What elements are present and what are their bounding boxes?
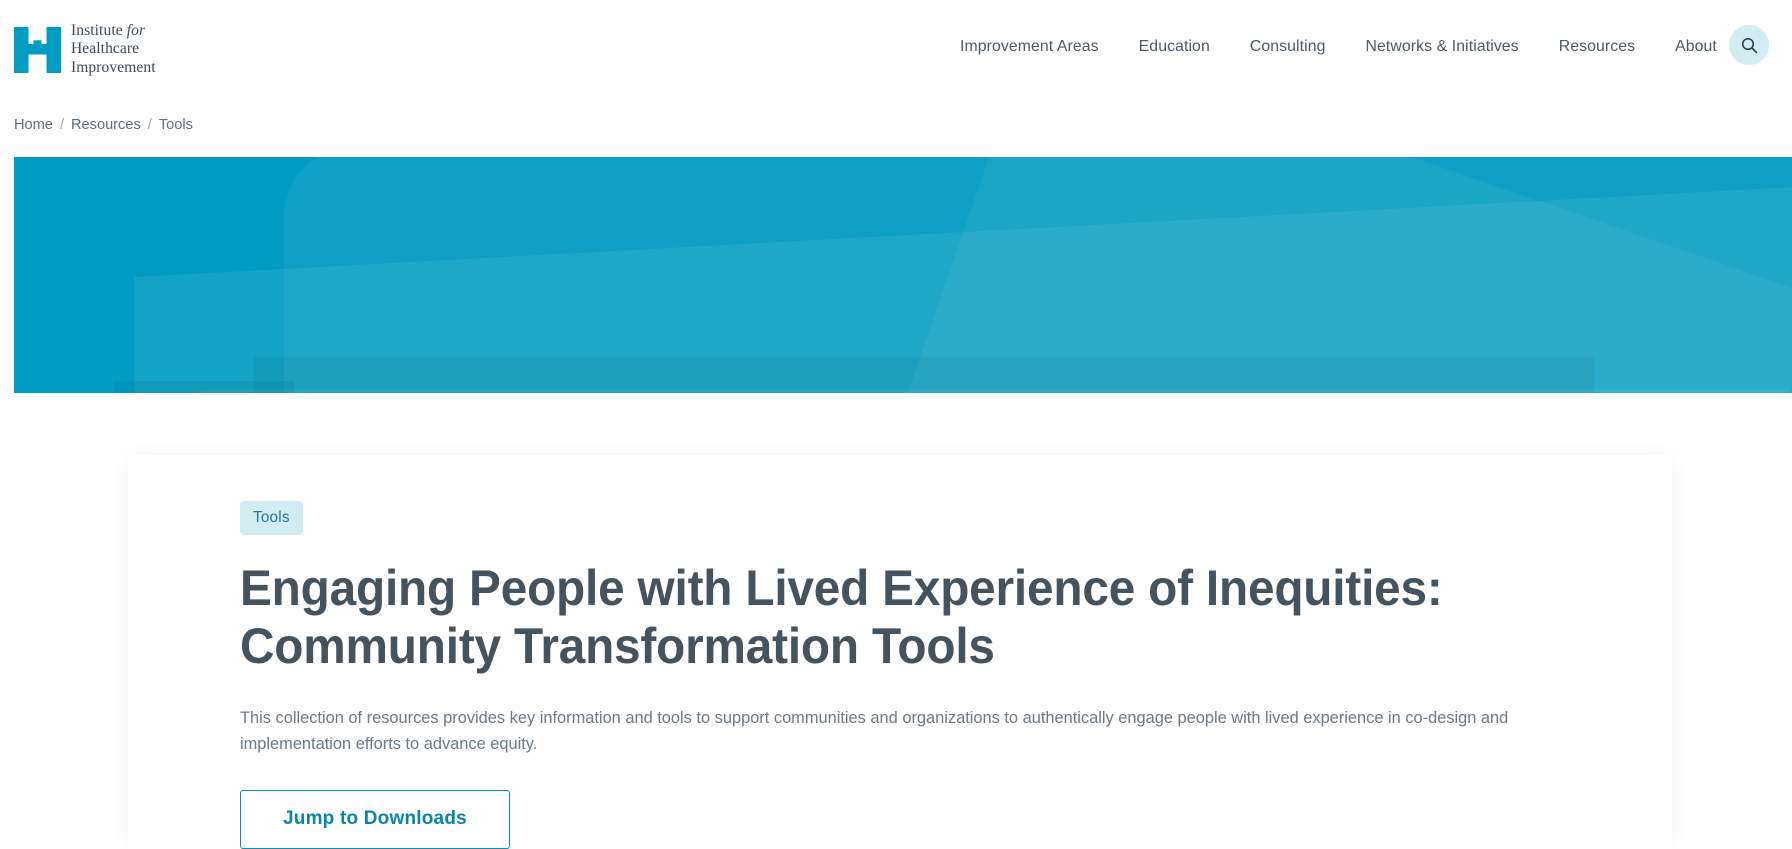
site-logo[interactable]: Institute for Healthcare Improvement xyxy=(14,22,156,77)
breadcrumb-item-tools: Tools xyxy=(159,117,193,133)
search-icon xyxy=(1741,37,1758,54)
ihi-h-mark-icon xyxy=(14,27,61,73)
logo-line-3: Improvement xyxy=(71,59,156,76)
logo-wordmark: Institute for Healthcare Improvement xyxy=(71,22,156,77)
breadcrumb-separator: / xyxy=(53,117,71,133)
logo-line-2: Healthcare xyxy=(71,40,139,57)
nav-item-education[interactable]: Education xyxy=(1119,38,1230,56)
banner-decoration-shape xyxy=(50,389,1790,393)
breadcrumb-item-resources[interactable]: Resources xyxy=(71,117,141,133)
logo-line-1: Institute for xyxy=(71,22,145,39)
nav-item-networks-initiatives[interactable]: Networks & Initiatives xyxy=(1346,38,1539,56)
nav-item-resources[interactable]: Resources xyxy=(1539,38,1655,56)
hero-section: Tools Engaging People with Lived Experie… xyxy=(0,157,1792,736)
breadcrumb-item-home[interactable]: Home xyxy=(14,117,53,133)
hero-content-card: Tools Engaging People with Lived Experie… xyxy=(128,455,1672,849)
site-header: Institute for Healthcare Improvement Imp… xyxy=(0,0,1792,93)
hero-banner xyxy=(14,157,1792,393)
nav-item-about[interactable]: About xyxy=(1655,38,1737,56)
main-navigation: Improvement Areas Education Consulting N… xyxy=(940,0,1737,93)
page-description: This collection of resources provides ke… xyxy=(240,705,1570,758)
nav-item-consulting[interactable]: Consulting xyxy=(1230,38,1346,56)
search-button[interactable] xyxy=(1729,25,1769,65)
breadcrumb: Home / Resources / Tools xyxy=(0,93,1792,157)
status-badge[interactable]: Tools xyxy=(240,501,303,535)
banner-decoration-shape xyxy=(254,357,1594,393)
page-title: Engaging People with Lived Experience of… xyxy=(240,560,1491,675)
nav-item-improvement-areas[interactable]: Improvement Areas xyxy=(940,38,1119,56)
breadcrumb-separator: / xyxy=(141,117,159,133)
jump-to-downloads-button[interactable]: Jump to Downloads xyxy=(240,790,510,849)
